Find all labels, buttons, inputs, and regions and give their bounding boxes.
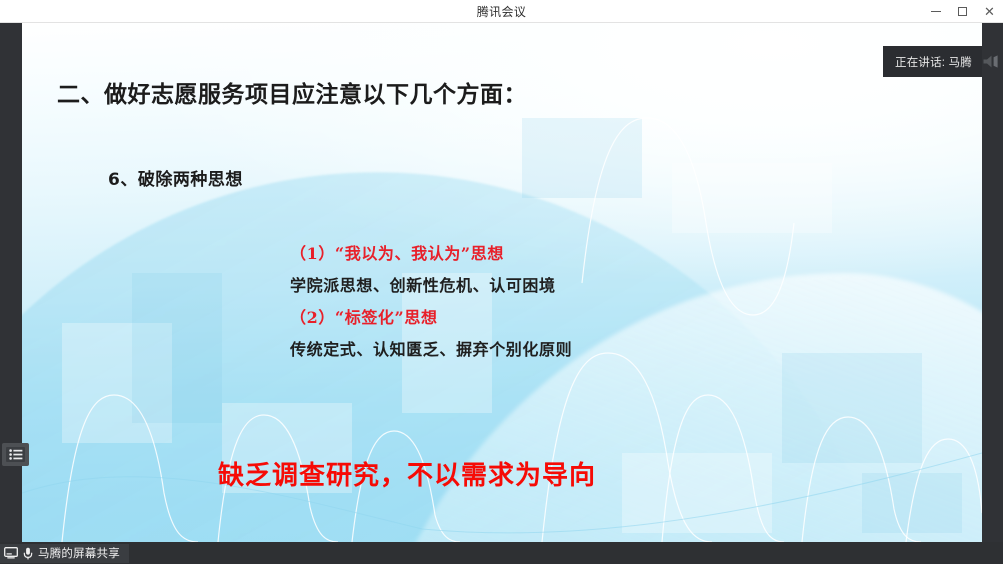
title-bar: 腾讯会议 ✕ — [0, 0, 1003, 23]
slide-bullet-3: （2）“标签化”思想 — [290, 302, 572, 334]
slide-bullet-1: （1）“我以为、我认为”思想 — [290, 238, 572, 270]
microphone-icon — [23, 547, 33, 560]
shared-screen-stage[interactable]: 二、做好志愿服务项目应注意以下几个方面： 6、破除两种思想 （1）“我以为、我认… — [22, 23, 982, 542]
screen-share-label: 马腾的屏幕共享 — [38, 545, 120, 561]
slide-bullet-2: 学院派思想、创新性危机、认可困境 — [290, 270, 572, 302]
list-panel-icon — [6, 447, 25, 462]
status-bar: 马腾的屏幕共享 — [0, 542, 1003, 564]
close-icon: ✕ — [984, 5, 995, 18]
slide-bullet-list: （1）“我以为、我认为”思想 学院派思想、创新性危机、认可困境 （2）“标签化”… — [290, 238, 572, 366]
active-speaker-label: 正在讲话: 马腾 — [895, 54, 972, 70]
window-controls: ✕ — [922, 0, 1003, 23]
speaker-icon[interactable] — [979, 46, 1003, 77]
slide-content: 二、做好志愿服务项目应注意以下几个方面： 6、破除两种思想 （1）“我以为、我认… — [22, 23, 982, 542]
panel-toggle-button[interactable] — [2, 443, 29, 466]
close-button[interactable]: ✕ — [976, 0, 1003, 23]
maximize-icon — [958, 7, 967, 16]
slide-subheading: 6、破除两种思想 — [108, 165, 243, 190]
monitor-icon — [4, 547, 18, 559]
minimize-button[interactable] — [922, 0, 949, 23]
minimize-icon — [931, 11, 941, 12]
slide-bullet-4: 传统定式、认知匮乏、摒弃个别化原则 — [290, 334, 572, 366]
tencent-meeting-window: 腾讯会议 ✕ — [0, 0, 1003, 564]
slide-heading: 二、做好志愿服务项目应注意以下几个方面： — [57, 75, 527, 109]
window-title: 腾讯会议 — [477, 3, 527, 20]
active-speaker-badge: 正在讲话: 马腾 — [883, 46, 982, 77]
screen-share-status[interactable]: 马腾的屏幕共享 — [0, 544, 129, 563]
maximize-button[interactable] — [949, 0, 976, 23]
right-shell-panel — [982, 23, 1003, 542]
slide-emphasis-text: 缺乏调查研究，不以需求为导向 — [218, 455, 596, 492]
